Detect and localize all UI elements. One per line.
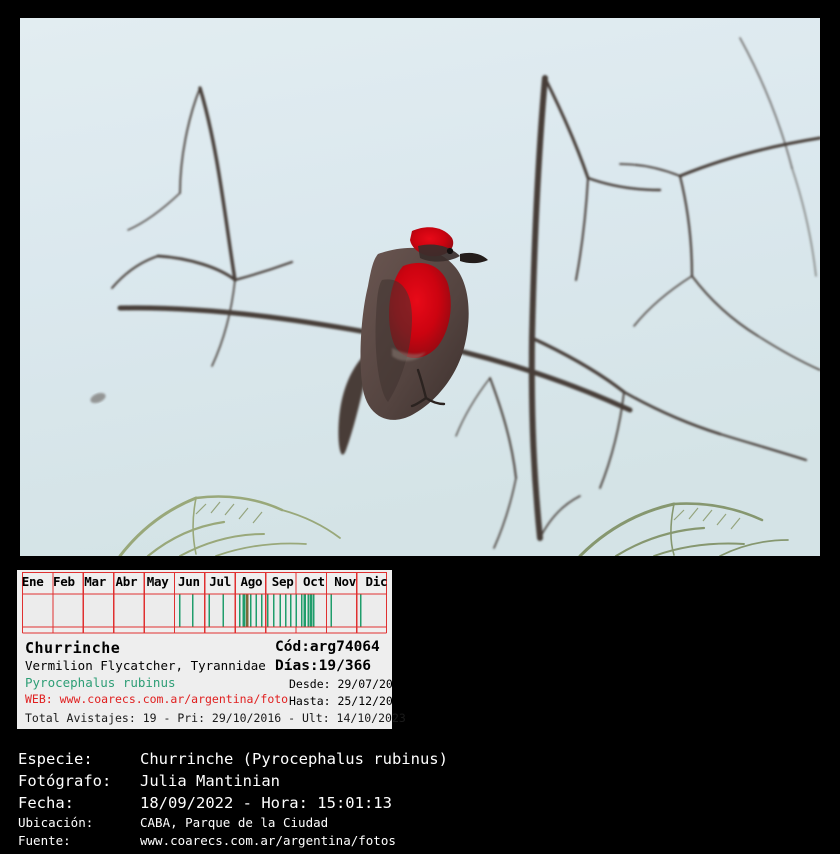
caption-row-fuente: Fuente: www.coarecs.com.ar/argentina/fot… xyxy=(18,832,828,850)
month-label-feb: Feb xyxy=(48,570,79,594)
caption-value-fecha: 18/09/2022 - Hora: 15:01:13 xyxy=(140,792,392,814)
month-label-jul: Jul xyxy=(205,570,236,594)
species-scientific-name: Pyrocephalus rubinus xyxy=(25,675,176,690)
month-label-dic: Dic xyxy=(361,570,392,594)
calendar-month-header: Ene Feb Mar Abr May Jun Jul Ago Sep Oct … xyxy=(17,570,392,594)
caption-value-especie: Churrinche (Pyrocephalus rubinus) xyxy=(140,748,448,770)
record-date-from: Desde: 29/07/2022 xyxy=(289,677,407,691)
sightings-calendar-chart: Ene Feb Mar Abr May Jun Jul Ago Sep Oct … xyxy=(17,570,392,637)
record-days-count: Días:19/366 xyxy=(275,658,371,674)
caption-row-fotografo: Fotógrafo: Julia Mantinian xyxy=(18,770,828,792)
month-label-sep: Sep xyxy=(267,570,298,594)
month-label-nov: Nov xyxy=(330,570,361,594)
caption-label-fotografo: Fotógrafo: xyxy=(18,770,140,792)
bird-photograph xyxy=(20,18,820,556)
caption-label-fecha: Fecha: xyxy=(18,792,140,814)
species-record-card: Ene Feb Mar Abr May Jun Jul Ago Sep Oct … xyxy=(17,570,392,729)
month-label-abr: Abr xyxy=(111,570,142,594)
month-label-ene: Ene xyxy=(17,570,48,594)
month-label-oct: Oct xyxy=(298,570,329,594)
photo-canvas xyxy=(20,18,820,556)
caption-label-especie: Especie: xyxy=(18,748,140,770)
month-label-may: May xyxy=(142,570,173,594)
photo-caption-block: Especie: Churrinche (Pyrocephalus rubinu… xyxy=(18,748,828,850)
caption-row-especie: Especie: Churrinche (Pyrocephalus rubinu… xyxy=(18,748,828,770)
record-card-details: Churrinche Vermilion Flycatcher, Tyranni… xyxy=(17,637,392,729)
caption-value-ubicacion: CABA, Parque de la Ciudad xyxy=(140,814,328,832)
record-code: Cód:arg74064 xyxy=(275,639,380,655)
caption-label-fuente: Fuente: xyxy=(18,832,140,850)
caption-row-ubicacion: Ubicación: CABA, Parque de la Ciudad xyxy=(18,814,828,832)
total-sightings-summary: Total Avistajes: 19 - Pri: 29/10/2016 - … xyxy=(25,711,406,725)
month-label-jun: Jun xyxy=(173,570,204,594)
record-date-to: Hasta: 25/12/2025 xyxy=(289,694,407,708)
caption-label-ubicacion: Ubicación: xyxy=(18,814,140,832)
month-label-ago: Ago xyxy=(236,570,267,594)
caption-value-fotografo: Julia Mantinian xyxy=(140,770,280,792)
caption-row-fecha: Fecha: 18/09/2022 - Hora: 15:01:13 xyxy=(18,792,828,814)
caption-value-fuente[interactable]: www.coarecs.com.ar/argentina/fotos xyxy=(140,832,396,850)
month-label-mar: Mar xyxy=(80,570,111,594)
screenshot-root: Ene Feb Mar Abr May Jun Jul Ago Sep Oct … xyxy=(0,0,840,854)
record-web-link[interactable]: WEB: www.coarecs.com.ar/argentina/foto xyxy=(25,692,288,706)
species-common-name: Churrinche xyxy=(25,639,120,657)
species-english-family: Vermilion Flycatcher, Tyrannidae xyxy=(25,658,266,673)
